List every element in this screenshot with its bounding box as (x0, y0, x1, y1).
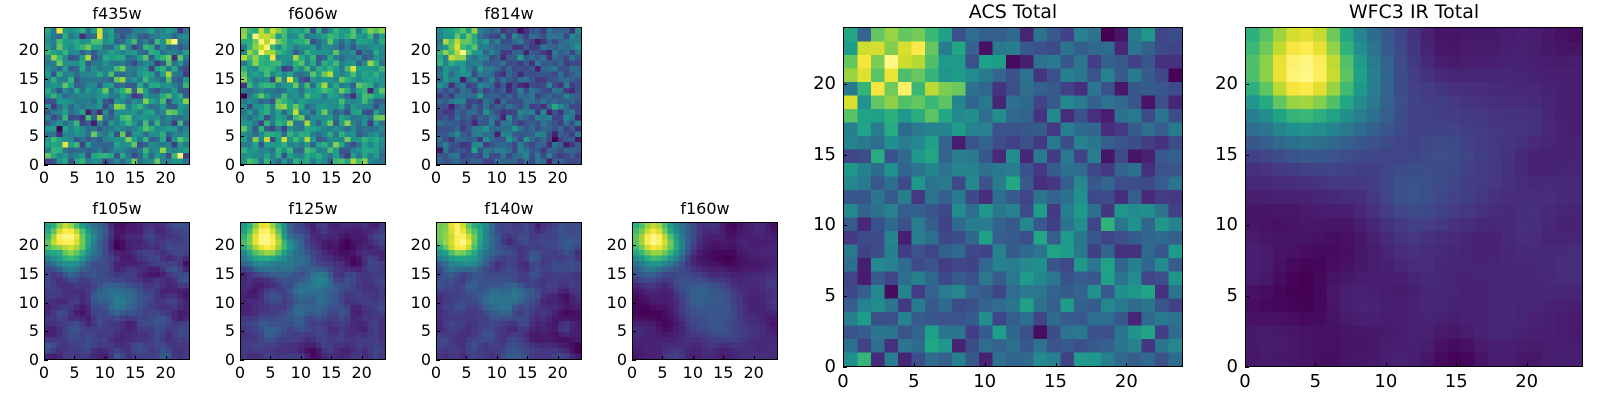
heatmap-axes (240, 222, 386, 360)
x-tick-label: 15 (517, 364, 537, 382)
y-tick-mark (44, 50, 48, 51)
y-tick-label: 20 (776, 74, 836, 94)
x-tick-label: 0 (39, 169, 49, 187)
x-tick-label: 0 (627, 364, 637, 382)
x-tick-label: 15 (125, 169, 145, 187)
x-tick-label: 10 (291, 169, 311, 187)
x-tick-mark (74, 161, 75, 165)
y-tick-mark (240, 50, 244, 51)
x-tick-mark (693, 356, 694, 360)
x-tick-mark (914, 363, 915, 367)
y-tick-label: 5 (371, 127, 431, 145)
y-tick-mark (436, 331, 440, 332)
y-tick-mark (44, 274, 48, 275)
x-tick-mark (331, 161, 332, 165)
y-tick-mark (843, 367, 847, 368)
y-tick-mark (1245, 84, 1249, 85)
x-tick-mark (135, 356, 136, 360)
y-tick-mark (44, 136, 48, 137)
x-tick-mark (527, 161, 528, 165)
x-tick-mark (466, 356, 467, 360)
y-tick-label: 5 (776, 286, 836, 306)
y-tick-label: 5 (175, 322, 235, 340)
heatmap-image (45, 28, 189, 164)
heatmap-image (241, 28, 385, 164)
x-tick-mark (270, 356, 271, 360)
y-tick-mark (632, 331, 636, 332)
x-tick-label: 10 (95, 169, 115, 187)
y-tick-mark (240, 108, 244, 109)
y-tick-mark (436, 50, 440, 51)
x-tick-mark (466, 161, 467, 165)
x-tick-mark (723, 356, 724, 360)
x-tick-label: 10 (487, 364, 507, 382)
y-tick-mark (632, 245, 636, 246)
y-tick-label: 15 (1178, 145, 1238, 165)
y-tick-label: 15 (371, 70, 431, 88)
y-tick-mark (436, 245, 440, 246)
y-tick-mark (44, 165, 48, 166)
panel-title: f105w (44, 199, 190, 218)
y-tick-label: 20 (567, 236, 627, 254)
x-tick-label: 15 (1445, 372, 1468, 392)
y-tick-label: 20 (175, 236, 235, 254)
y-tick-label: 20 (371, 236, 431, 254)
y-tick-mark (843, 155, 847, 156)
heatmap-axes (1245, 27, 1583, 367)
y-tick-label: 20 (371, 41, 431, 59)
y-tick-label: 15 (776, 145, 836, 165)
y-tick-label: 10 (175, 294, 235, 312)
heatmap-axes (44, 222, 190, 360)
figure-canvas: f435w0510152005101520f606w05101520051015… (0, 0, 1600, 400)
y-tick-mark (44, 360, 48, 361)
y-tick-label: 20 (0, 41, 39, 59)
y-tick-mark (632, 274, 636, 275)
x-tick-label: 5 (657, 364, 667, 382)
x-tick-label: 0 (431, 169, 441, 187)
heatmap-axes (240, 27, 386, 165)
y-tick-label: 15 (567, 265, 627, 283)
x-tick-label: 5 (908, 372, 919, 392)
x-tick-label: 0 (39, 364, 49, 382)
x-tick-label: 15 (517, 169, 537, 187)
x-tick-mark (362, 161, 363, 165)
y-tick-mark (436, 79, 440, 80)
heatmap-image (437, 223, 581, 359)
heatmap-axes (436, 222, 582, 360)
x-tick-mark (105, 356, 106, 360)
x-tick-label: 5 (69, 169, 79, 187)
x-tick-label: 15 (321, 169, 341, 187)
panel-title: f606w (240, 4, 386, 23)
x-tick-label: 10 (683, 364, 703, 382)
y-tick-mark (436, 136, 440, 137)
y-tick-mark (632, 360, 636, 361)
panel-title: WFC3 IR Total (1245, 1, 1583, 23)
y-tick-mark (843, 84, 847, 85)
y-tick-label: 10 (1178, 215, 1238, 235)
y-tick-label: 0 (1178, 357, 1238, 377)
heatmap-image (437, 28, 581, 164)
y-tick-label: 15 (175, 265, 235, 283)
x-tick-mark (985, 363, 986, 367)
y-tick-label: 5 (175, 127, 235, 145)
y-tick-mark (240, 79, 244, 80)
x-tick-mark (497, 356, 498, 360)
y-tick-label: 10 (175, 99, 235, 117)
heatmap-image (45, 223, 189, 359)
x-tick-label: 5 (461, 364, 471, 382)
x-tick-mark (362, 356, 363, 360)
panel-title: f140w (436, 199, 582, 218)
y-tick-label: 0 (175, 156, 235, 174)
panel-title: f814w (436, 4, 582, 23)
x-tick-label: 15 (1044, 372, 1067, 392)
y-tick-mark (44, 79, 48, 80)
x-tick-mark (166, 161, 167, 165)
x-tick-mark (754, 356, 755, 360)
x-tick-mark (301, 161, 302, 165)
y-tick-label: 10 (371, 99, 431, 117)
heatmap-axes (843, 27, 1183, 367)
y-tick-label: 5 (1178, 286, 1238, 306)
y-tick-label: 0 (371, 351, 431, 369)
x-tick-mark (301, 356, 302, 360)
y-tick-label: 15 (175, 70, 235, 88)
y-tick-label: 15 (0, 70, 39, 88)
heatmap-image (633, 223, 777, 359)
x-tick-label: 10 (973, 372, 996, 392)
y-tick-label: 0 (776, 357, 836, 377)
x-tick-label: 10 (487, 169, 507, 187)
y-tick-label: 0 (371, 156, 431, 174)
y-tick-mark (436, 165, 440, 166)
y-tick-mark (843, 296, 847, 297)
x-tick-label: 15 (125, 364, 145, 382)
y-tick-label: 0 (567, 351, 627, 369)
x-tick-mark (558, 356, 559, 360)
y-tick-label: 5 (0, 322, 39, 340)
panel-title: f435w (44, 4, 190, 23)
y-tick-label: 10 (567, 294, 627, 312)
heatmap-image (844, 28, 1182, 366)
x-tick-mark (135, 161, 136, 165)
y-tick-label: 0 (0, 156, 39, 174)
y-tick-mark (1245, 296, 1249, 297)
x-tick-label: 5 (265, 364, 275, 382)
x-tick-mark (166, 356, 167, 360)
x-tick-mark (270, 161, 271, 165)
x-tick-mark (1527, 363, 1528, 367)
y-tick-label: 10 (371, 294, 431, 312)
y-tick-label: 5 (567, 322, 627, 340)
y-tick-label: 20 (175, 41, 235, 59)
x-tick-mark (74, 356, 75, 360)
x-tick-mark (527, 356, 528, 360)
x-tick-mark (105, 161, 106, 165)
x-tick-mark (497, 161, 498, 165)
y-tick-mark (240, 245, 244, 246)
y-tick-mark (44, 331, 48, 332)
x-tick-mark (1056, 363, 1057, 367)
x-tick-label: 0 (235, 364, 245, 382)
x-tick-label: 20 (547, 364, 567, 382)
y-tick-mark (240, 165, 244, 166)
x-tick-label: 20 (155, 364, 175, 382)
heatmap-image (1246, 28, 1582, 366)
x-tick-label: 15 (713, 364, 733, 382)
x-tick-label: 0 (1239, 372, 1250, 392)
y-tick-mark (436, 360, 440, 361)
x-tick-label: 20 (547, 169, 567, 187)
y-tick-mark (240, 136, 244, 137)
panel-title: f125w (240, 199, 386, 218)
y-tick-mark (44, 245, 48, 246)
heatmap-axes (44, 27, 190, 165)
x-tick-label: 10 (1374, 372, 1397, 392)
y-tick-label: 20 (1178, 74, 1238, 94)
y-tick-label: 10 (0, 99, 39, 117)
x-tick-label: 5 (461, 169, 471, 187)
y-tick-label: 5 (371, 322, 431, 340)
y-tick-mark (240, 360, 244, 361)
x-tick-label: 10 (291, 364, 311, 382)
y-tick-label: 10 (0, 294, 39, 312)
x-tick-label: 5 (69, 364, 79, 382)
y-tick-label: 0 (0, 351, 39, 369)
x-tick-label: 0 (235, 169, 245, 187)
x-tick-mark (1456, 363, 1457, 367)
x-tick-label: 0 (431, 364, 441, 382)
y-tick-label: 20 (0, 236, 39, 254)
y-tick-mark (240, 274, 244, 275)
x-tick-mark (558, 161, 559, 165)
y-tick-mark (240, 331, 244, 332)
heatmap-axes (632, 222, 778, 360)
x-tick-label: 5 (265, 169, 275, 187)
y-tick-mark (436, 303, 440, 304)
x-tick-mark (1126, 363, 1127, 367)
x-tick-label: 15 (321, 364, 341, 382)
y-tick-mark (632, 303, 636, 304)
y-tick-mark (1245, 367, 1249, 368)
heatmap-image (241, 223, 385, 359)
y-tick-mark (843, 225, 847, 226)
y-tick-mark (1245, 225, 1249, 226)
x-tick-mark (662, 356, 663, 360)
y-tick-label: 15 (371, 265, 431, 283)
panel-title: ACS Total (843, 1, 1183, 23)
x-tick-label: 20 (1115, 372, 1138, 392)
x-tick-label: 20 (1515, 372, 1538, 392)
x-tick-label: 5 (1310, 372, 1321, 392)
y-tick-mark (44, 303, 48, 304)
heatmap-axes (436, 27, 582, 165)
x-tick-mark (331, 356, 332, 360)
y-tick-mark (436, 108, 440, 109)
x-tick-label: 20 (743, 364, 763, 382)
y-tick-label: 10 (776, 215, 836, 235)
x-tick-label: 20 (155, 169, 175, 187)
x-tick-label: 0 (837, 372, 848, 392)
y-tick-mark (436, 274, 440, 275)
y-tick-label: 5 (0, 127, 39, 145)
x-tick-label: 20 (351, 169, 371, 187)
x-tick-mark (1315, 363, 1316, 367)
y-tick-label: 0 (175, 351, 235, 369)
x-tick-mark (1386, 363, 1387, 367)
y-tick-label: 15 (0, 265, 39, 283)
x-tick-label: 10 (95, 364, 115, 382)
y-tick-mark (240, 303, 244, 304)
panel-title: f160w (632, 199, 778, 218)
x-tick-label: 20 (351, 364, 371, 382)
y-tick-mark (44, 108, 48, 109)
y-tick-mark (1245, 155, 1249, 156)
